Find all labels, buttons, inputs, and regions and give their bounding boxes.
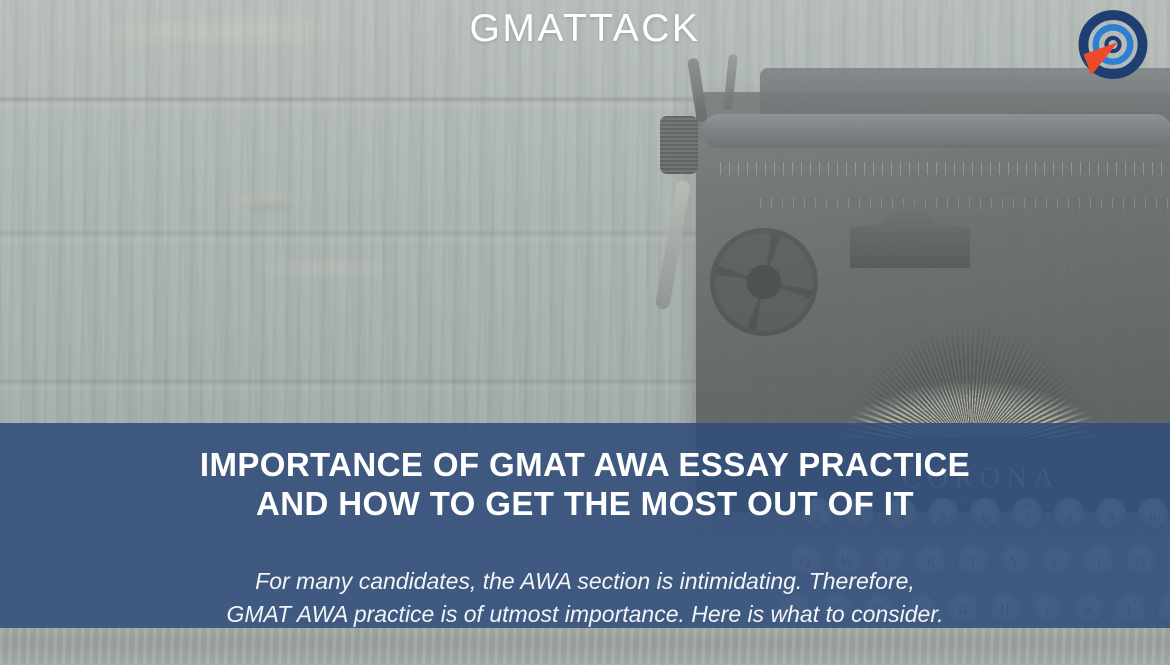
page-subtitle: For many candidates, the AWA section is …: [226, 565, 943, 628]
page-title: IMPORTANCE OF GMAT AWA ESSAY PRACTICE AN…: [200, 446, 970, 524]
brand-name: GMATTACK: [470, 7, 701, 51]
target-arrow-logo-icon[interactable]: [1072, 6, 1154, 88]
bottom-photo-strip: [0, 628, 1170, 665]
brand-bar: GMATTACK: [0, 0, 1170, 96]
blog-header-graphic: CORONA FOUR "2'3$4¢5=6&7*8(9)0_- QWERTYU…: [0, 0, 1170, 665]
title-banner: IMPORTANCE OF GMAT AWA ESSAY PRACTICE AN…: [0, 423, 1170, 628]
